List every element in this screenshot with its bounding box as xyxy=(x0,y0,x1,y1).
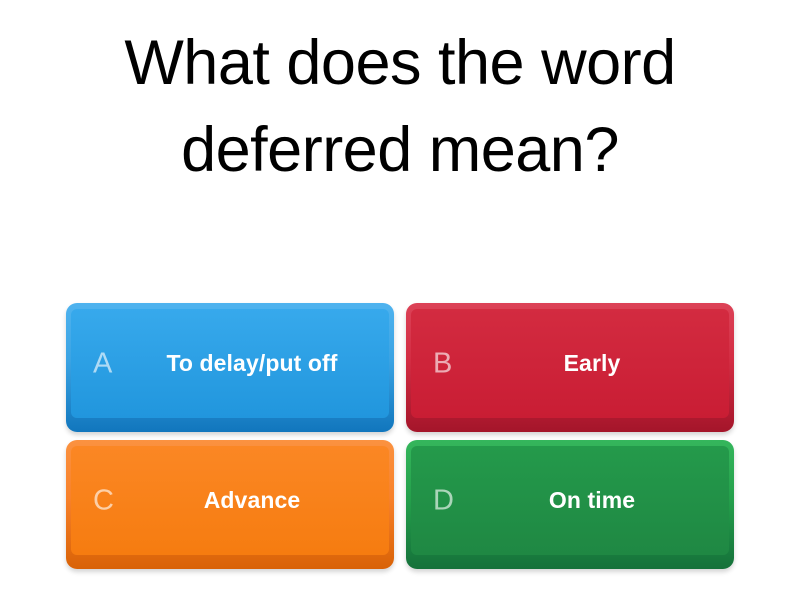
question-text: What does the word deferred mean? xyxy=(80,20,720,194)
answer-options-grid: A To delay/put off B Early C Advance D O… xyxy=(66,303,734,569)
answer-label-b: Early xyxy=(411,350,729,377)
answer-face-d: D On time xyxy=(411,446,729,555)
answer-face-b: B Early xyxy=(411,309,729,418)
answer-option-d[interactable]: D On time xyxy=(406,440,734,569)
answer-option-b[interactable]: B Early xyxy=(406,303,734,432)
answer-face-c: C Advance xyxy=(71,446,389,555)
answer-label-c: Advance xyxy=(71,487,389,514)
answer-option-c[interactable]: C Advance xyxy=(66,440,394,569)
question-area: What does the word deferred mean? xyxy=(0,0,800,290)
answer-face-a: A To delay/put off xyxy=(71,309,389,418)
answer-option-a[interactable]: A To delay/put off xyxy=(66,303,394,432)
answer-label-a: To delay/put off xyxy=(71,350,389,377)
quiz-slide: What does the word deferred mean? A To d… xyxy=(0,0,800,600)
answer-label-d: On time xyxy=(411,487,729,514)
